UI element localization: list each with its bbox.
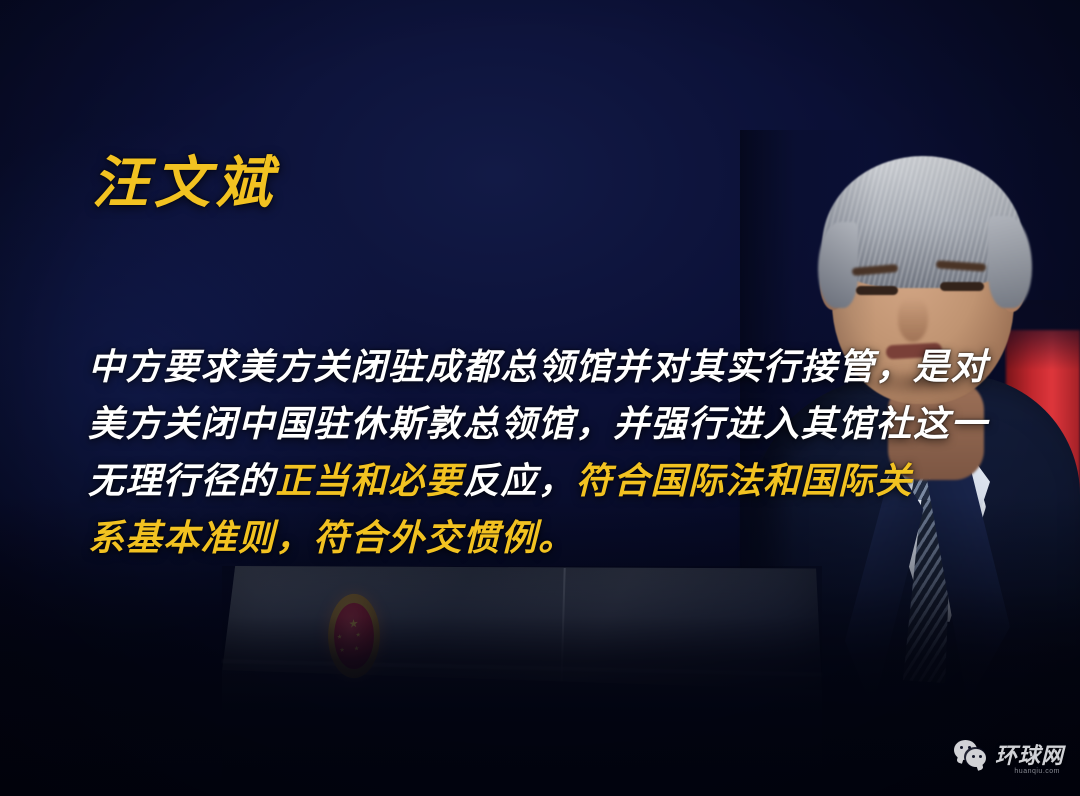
watermark-sub-label: huanqiu.com [1014,768,1060,775]
speaker-name: 汪文斌 [92,138,278,219]
quote-highlight-segment: 正当和必要 [276,460,464,501]
quote-highlight-segment: 符合国际法和国际关 [576,460,914,501]
wechat-icon [954,740,988,768]
watermark: 环球网 [954,738,1064,770]
quote-text-block: 中方要求美方关闭驻成都总领馆并对其实行接管，是对 美方关闭中国驻休斯敦总领馆，并… [88,338,848,566]
wechat-dot-2 [968,746,971,749]
quote-segment: 反应， [463,460,576,501]
quote-segment: 中方要求美方关闭驻成都总领馆并对其实行接管，是对 [88,346,988,387]
quote-line: 中方要求美方关闭驻成都总领馆并对其实行接管，是对 [88,338,848,395]
watermark-brand: 环球网 [995,738,1064,770]
wechat-dot-4 [979,755,982,758]
quote-highlight-segment: 系基本准则，符合外交惯例。 [88,517,576,558]
quote-line: 美方关闭中国驻休斯敦总领馆，并强行进入其馆社这一 [88,395,848,452]
quote-segment: 美方关闭中国驻休斯敦总领馆，并强行进入其馆社这一 [88,403,988,444]
quote-card: 汪文斌 中方要求美方关闭驻成都总领馆并对其实行接管，是对 美方关闭中国驻休斯敦总… [0,0,1080,796]
quote-segment: 无理行径的 [88,460,276,501]
wechat-dot-1 [960,746,963,749]
quote-line: 无理行径的正当和必要反应，符合国际法和国际关 [88,452,848,509]
wechat-dot-3 [972,755,975,758]
quote-line: 系基本准则，符合外交惯例。 [88,509,848,566]
wechat-bubble-small [966,749,986,767]
